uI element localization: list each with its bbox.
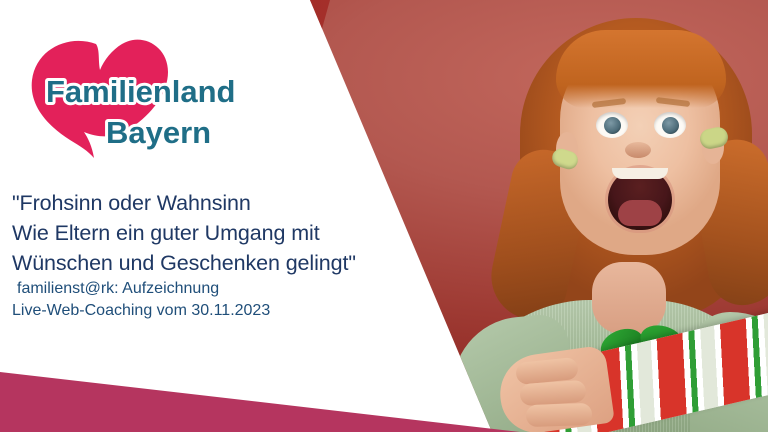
slide-text-block: "Frohsinn oder Wahnsinn Wie Eltern ein g…: [12, 188, 402, 322]
presentation-slide: Familienland Familienland Bayern Bayern …: [0, 0, 768, 432]
subtitle-line-1: familienst@rk: Aufzeichnung: [12, 278, 402, 300]
headline-line-1: "Frohsinn oder Wahnsinn: [12, 188, 402, 218]
svg-text:Familienland: Familienland: [46, 74, 235, 109]
girl-nose: [625, 142, 651, 158]
headline-line-2: Wie Eltern ein guter Umgang mit: [12, 218, 402, 248]
headline-line-3: Wünschen und Geschenken gelingt": [12, 248, 402, 278]
accent-wedge: [0, 372, 520, 432]
girl-finger: [519, 380, 586, 407]
subtitle-line-2: Live-Web-Coaching vom 30.11.2023: [12, 300, 402, 322]
girl-tongue: [618, 200, 662, 226]
girl-hair-fringe: [556, 30, 726, 108]
girl-teeth: [612, 168, 668, 179]
familienland-bayern-logo: Familienland Familienland Bayern Bayern: [18, 28, 268, 168]
girl-iris-left: [604, 117, 621, 134]
girl-finger: [526, 403, 593, 427]
girl-iris-right: [662, 117, 679, 134]
girl-neck: [592, 262, 666, 334]
svg-text:Bayern: Bayern: [106, 115, 211, 150]
